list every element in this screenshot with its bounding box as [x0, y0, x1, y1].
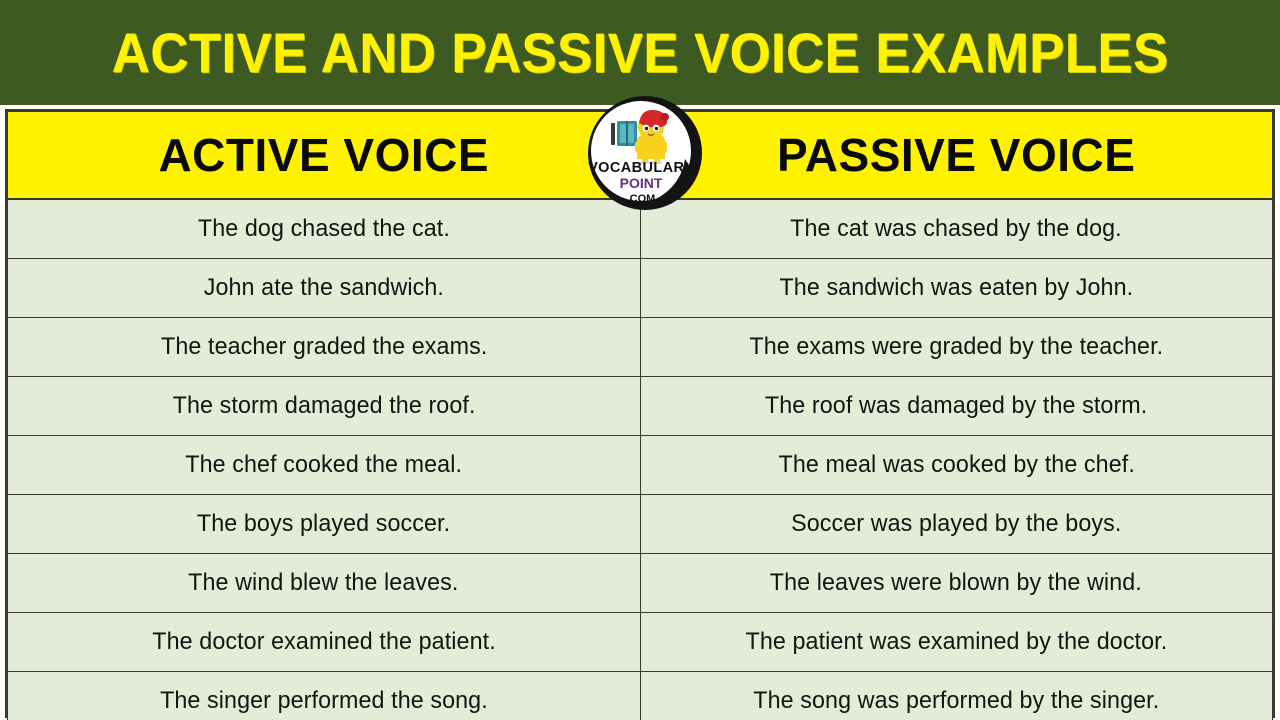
active-sentence: The chef cooked the meal. [185, 451, 462, 479]
cell-active-voice: The doctor examined the patient. [8, 613, 641, 672]
active-sentence: The dog chased the cat. [198, 215, 450, 243]
cell-passive-voice: The leaves were blown by the wind. [640, 554, 1273, 613]
cell-passive-voice: The song was performed by the singer. [640, 672, 1273, 720]
cell-passive-voice: The roof was damaged by the storm. [640, 377, 1273, 436]
cell-active-voice: The singer performed the song. [8, 672, 641, 720]
cell-active-voice: The teacher graded the exams. [8, 318, 641, 377]
active-sentence: The doctor examined the patient. [152, 628, 495, 656]
cell-active-voice: The boys played soccer. [8, 495, 641, 554]
table-body: The dog chased the cat. The cat was chas… [8, 199, 1273, 720]
logo-line-vocabulary: VOCABULARY [588, 160, 694, 176]
active-sentence: The wind blew the leaves. [189, 569, 459, 597]
cell-passive-voice: The sandwich was eaten by John. [640, 259, 1273, 318]
table-row: The singer performed the song. The song … [8, 672, 1273, 720]
table-row: John ate the sandwich. The sandwich was … [8, 259, 1273, 318]
cell-passive-voice: The cat was chased by the dog. [640, 199, 1273, 259]
passive-sentence: The exams were graded by the teacher. [749, 333, 1163, 361]
active-sentence: The storm damaged the roof. [172, 392, 475, 420]
passive-sentence: The meal was cooked by the chef. [778, 451, 1134, 479]
active-sentence: The singer performed the song. [160, 687, 488, 715]
passive-sentence: The song was performed by the singer. [753, 687, 1159, 715]
passive-sentence: The leaves were blown by the wind. [770, 569, 1142, 597]
vocabulary-point-logo[interactable]: VOCABULARY POINT .COM [585, 93, 705, 213]
table-row: The teacher graded the exams. The exams … [8, 318, 1273, 377]
table-row: The doctor examined the patient. The pat… [8, 613, 1273, 672]
cell-active-voice: The wind blew the leaves. [8, 554, 641, 613]
cell-active-voice: The chef cooked the meal. [8, 436, 641, 495]
page-banner: ACTIVE AND PASSIVE VOICE EXAMPLES [0, 0, 1280, 105]
passive-sentence: The roof was damaged by the storm. [765, 392, 1147, 420]
table-row: The storm damaged the roof. The roof was… [8, 377, 1273, 436]
table-row: The boys played soccer. Soccer was playe… [8, 495, 1273, 554]
cell-passive-voice: Soccer was played by the boys. [640, 495, 1273, 554]
table-row: The chef cooked the meal. The meal was c… [8, 436, 1273, 495]
column-header-active-voice: ACTIVE VOICE [8, 112, 641, 200]
cell-passive-voice: The meal was cooked by the chef. [640, 436, 1273, 495]
logo-line-point: POINT [620, 175, 663, 191]
cell-active-voice: The dog chased the cat. [8, 199, 641, 259]
column-header-passive-voice: PASSIVE VOICE [640, 112, 1273, 200]
passive-sentence: Soccer was played by the boys. [791, 510, 1121, 538]
table-row: The wind blew the leaves. The leaves wer… [8, 554, 1273, 613]
passive-sentence: The cat was chased by the dog. [790, 215, 1122, 243]
logo-line-com: .COM [627, 193, 656, 205]
cell-active-voice: John ate the sandwich. [8, 259, 641, 318]
cell-passive-voice: The exams were graded by the teacher. [640, 318, 1273, 377]
active-sentence: The boys played soccer. [197, 510, 450, 538]
page-root: ACTIVE AND PASSIVE VOICE EXAMPLES ACTIVE… [0, 0, 1280, 720]
active-sentence: John ate the sandwich. [204, 274, 444, 302]
passive-sentence: The sandwich was eaten by John. [779, 274, 1133, 302]
passive-sentence: The patient was examined by the doctor. [745, 628, 1167, 656]
active-sentence: The teacher graded the exams. [161, 333, 487, 361]
cell-active-voice: The storm damaged the roof. [8, 377, 641, 436]
book-icon [611, 121, 637, 146]
cell-passive-voice: The patient was examined by the doctor. [640, 613, 1273, 672]
page-title: ACTIVE AND PASSIVE VOICE EXAMPLES [112, 25, 1169, 81]
